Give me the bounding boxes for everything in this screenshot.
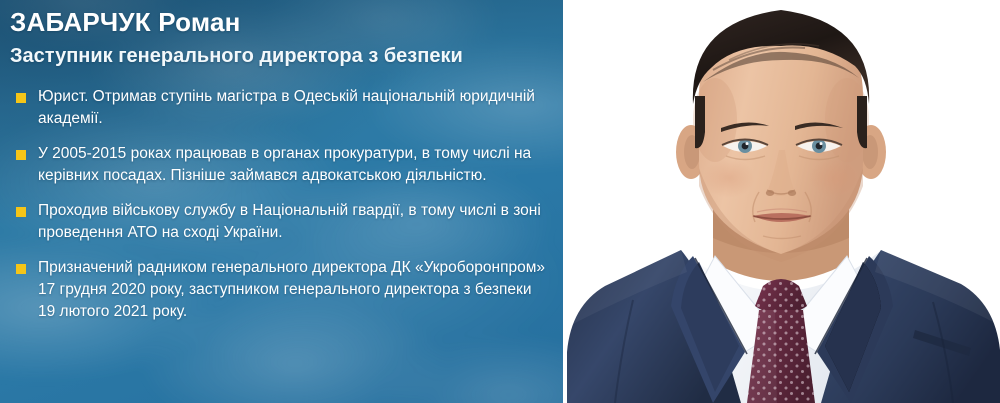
- bio-list-item: У 2005-2015 роках працював в органах про…: [8, 143, 549, 187]
- bullet-square-icon: [16, 93, 26, 103]
- bio-list-item: Юрист. Отримав ступінь магістра в Одеськ…: [8, 86, 549, 130]
- bullet-square-icon: [16, 150, 26, 160]
- bio-text: У 2005-2015 роках працював в органах про…: [38, 145, 531, 184]
- profile-slide: ЗАБАРЧУК Роман Заступник генерального ди…: [0, 0, 1000, 403]
- info-panel: ЗАБАРЧУК Роман Заступник генерального ди…: [0, 0, 563, 403]
- bio-list-item: Проходив військову службу в Національній…: [8, 200, 549, 244]
- bio-text: Призначений радником генерального директ…: [38, 259, 545, 320]
- bio-text: Юрист. Отримав ступінь магістра в Одеськ…: [38, 88, 535, 127]
- portrait-panel: Портрет: чоловік у темно-синьому костюмі…: [563, 0, 1000, 403]
- bio-text: Проходив військову службу в Національній…: [38, 202, 541, 241]
- portrait-photo: Портрет: чоловік у темно-синьому костюмі…: [563, 0, 1000, 403]
- bio-list: Юрист. Отримав ступінь магістра в Одеськ…: [8, 86, 549, 323]
- bio-list-item: Призначений радником генерального директ…: [8, 257, 549, 323]
- person-role: Заступник генерального директора з безпе…: [8, 43, 480, 69]
- bullet-square-icon: [16, 207, 26, 217]
- bullet-square-icon: [16, 264, 26, 274]
- person-name: ЗАБАРЧУК Роман: [8, 6, 549, 38]
- panel-content: ЗАБАРЧУК Роман Заступник генерального ди…: [0, 0, 563, 403]
- portrait-illustration: Портрет: чоловік у темно-синьому костюмі…: [563, 0, 1000, 403]
